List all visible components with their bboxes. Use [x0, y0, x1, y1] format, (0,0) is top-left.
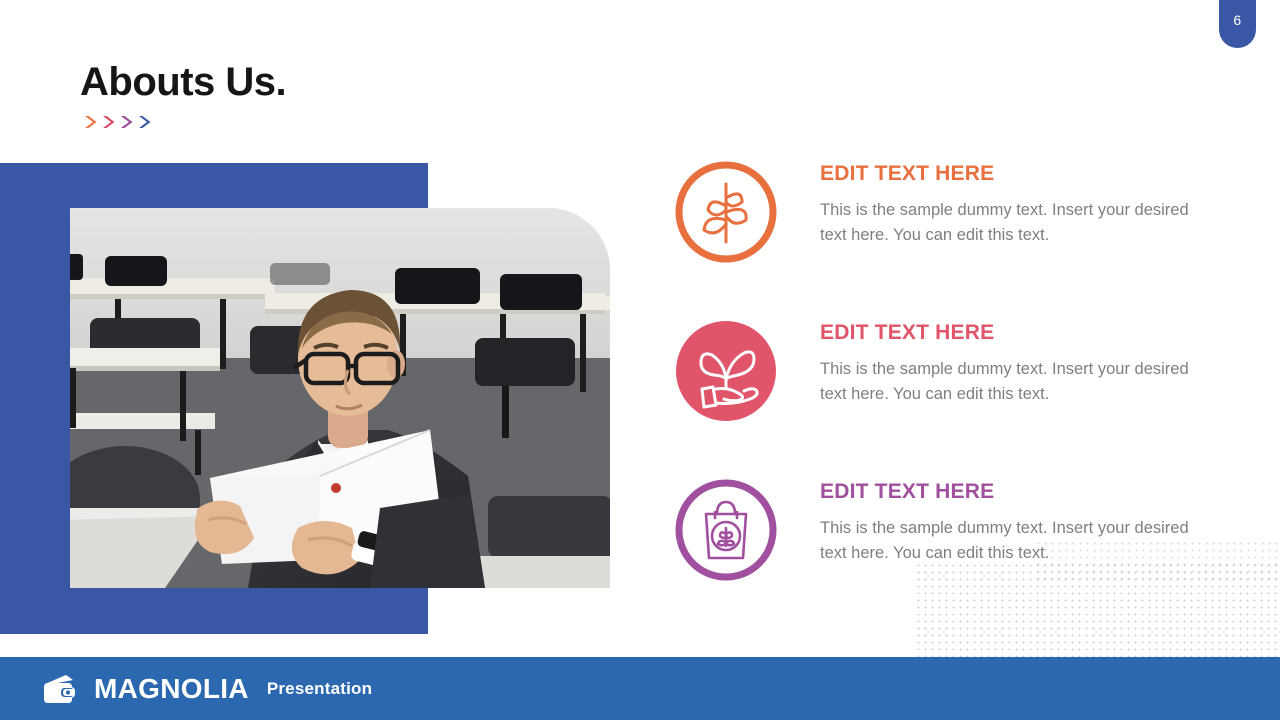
feature-heading-1: EDIT TEXT HERE: [820, 162, 1198, 186]
feature-item-2: EDIT TEXT HERE This is the sample dummy …: [672, 311, 1232, 470]
classroom-photo-illustration: [70, 208, 610, 588]
page-number-badge: 6: [1219, 0, 1256, 48]
feature-text-3: EDIT TEXT HERE This is the sample dummy …: [820, 480, 1198, 566]
footer-subtitle: Presentation: [267, 679, 372, 699]
plant-branch-icon: [672, 158, 780, 266]
feature-body-2: This is the sample dummy text. Insert yo…: [820, 357, 1198, 407]
feature-heading-3: EDIT TEXT HERE: [820, 480, 1198, 504]
feature-body-1: This is the sample dummy text. Insert yo…: [820, 198, 1198, 248]
feature-text-1: EDIT TEXT HERE This is the sample dummy …: [820, 162, 1198, 248]
feature-heading-2: EDIT TEXT HERE: [820, 321, 1198, 345]
chevron-accent-group: [82, 113, 154, 131]
hand-sprout-icon: [672, 317, 780, 425]
feature-item-3: EDIT TEXT HERE This is the sample dummy …: [672, 470, 1232, 629]
chevron-right-icon-1: [82, 113, 100, 131]
feature-list: EDIT TEXT HERE This is the sample dummy …: [672, 152, 1232, 629]
footer-brand-name: MAGNOLIA: [94, 673, 249, 705]
chevron-right-icon-4: [136, 113, 154, 131]
feature-text-2: EDIT TEXT HERE This is the sample dummy …: [820, 321, 1198, 407]
chevron-right-icon-2: [100, 113, 118, 131]
footer-bar: MAGNOLIA Presentation: [0, 657, 1280, 720]
chevron-right-icon-3: [118, 113, 136, 131]
about-photo: [70, 208, 610, 588]
feature-body-3: This is the sample dummy text. Insert yo…: [820, 516, 1198, 566]
feature-item-1: EDIT TEXT HERE This is the sample dummy …: [672, 152, 1232, 311]
wallet-icon: [42, 673, 78, 705]
slide-canvas: 6 Abouts Us.: [0, 0, 1280, 720]
eco-shopping-bag-icon: [672, 476, 780, 584]
page-title: Abouts Us.: [80, 60, 286, 105]
